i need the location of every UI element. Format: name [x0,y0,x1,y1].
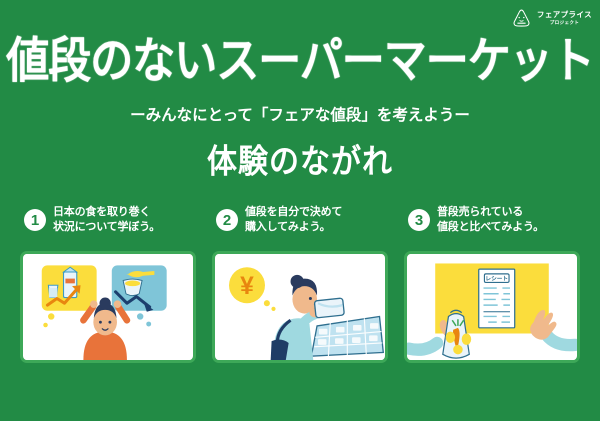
step-2-illustration-panel: ¥ [212,251,388,363]
step-3-heading: 3 普段売られている 値段と比べてみよう。 [404,205,580,249]
illustration-decide-own-price: ¥ [215,254,385,360]
steps-row: 1 日本の食を取り巻く 状況について学ぼう。 [0,205,600,380]
step-3-illustration-panel: レシート [404,251,580,363]
brand-logo: フェアプライス プロジェクト [510,7,592,30]
logo-sub-text: プロジェクト [550,21,579,26]
logo-main-text: フェアプライス [537,11,592,19]
step-2-line-1: 値段を自分で決めて [245,205,342,220]
yen-symbol-icon: ¥ [240,273,254,300]
step-2-number-badge: 2 [216,209,238,231]
step-3-line-1: 普段売られている [437,205,544,220]
step-3-number-badge: 3 [408,209,430,231]
step-1-text-block: 日本の食を取り巻く 状況について学ぼう。 [53,205,160,235]
onigiri-triangle-logo-icon [510,7,533,30]
step-2-heading: 2 値段を自分で決めて 購入してみよう。 [212,205,388,249]
step-item-1: 1 日本の食を取り巻く 状況について学ぼう。 [20,205,196,380]
step-2-line-2: 購入してみよう。 [245,220,342,235]
illustration-compare-with-usual-price: レシート [407,254,577,360]
step-1-line-1: 日本の食を取り巻く [53,205,160,220]
step-1-heading: 1 日本の食を取り巻く 状況について学ぼう。 [20,205,196,249]
step-item-2: 2 値段を自分で決めて 購入してみよう。 ¥ [212,205,388,380]
step-item-3: 3 普段売られている 値段と比べてみよう。 レシート [404,205,580,380]
page-subtitle: ーみんなにとって「フェアな値段」を考えようー [0,108,600,124]
receipt-title-label: レシート [485,276,508,283]
step-2-text-block: 値段を自分で決めて 購入してみよう。 [245,205,342,235]
step-1-line-2: 状況について学ぼう。 [53,220,160,235]
page-title: 値段のないスーパーマーケット [0,38,600,86]
poster-root: フェアプライス プロジェクト 値段のないスーパーマーケット ーみんなにとって「フ… [0,0,600,421]
step-1-illustration-panel [20,251,196,363]
section-heading: 体験のながれ [0,146,600,179]
illustration-learn-about-food-situation [23,254,193,360]
step-3-text-block: 普段売られている 値段と比べてみよう。 [437,205,544,235]
step-1-number-badge: 1 [24,209,46,231]
logo-text-block: フェアプライス プロジェクト [537,11,592,25]
step-3-line-2: 値段と比べてみよう。 [437,220,544,235]
